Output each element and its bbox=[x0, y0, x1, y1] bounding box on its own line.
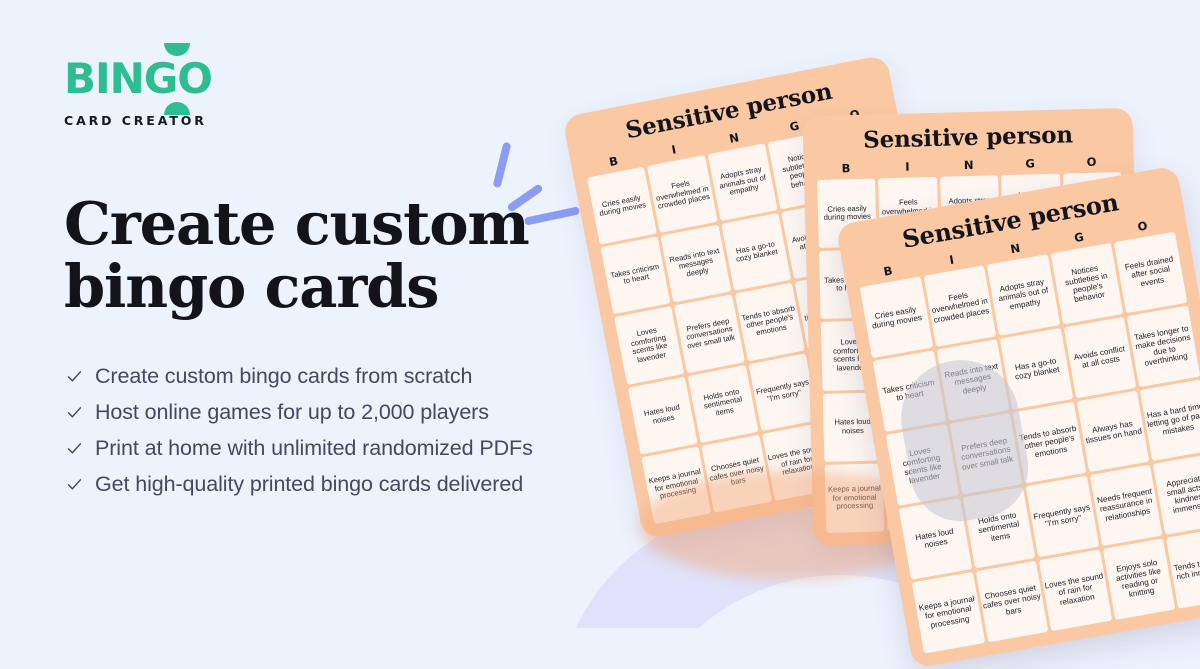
bingo-cell[interactable]: Cries easily during movies bbox=[587, 167, 657, 245]
bingo-cell[interactable]: Feels overwhelmed in crowded places bbox=[923, 265, 996, 347]
bingo-cell[interactable]: Takes criticism to heart bbox=[873, 350, 946, 432]
bingo-cell[interactable]: Loves comforting scents like lavender bbox=[886, 424, 959, 506]
bingo-cell[interactable]: Loves the sound of rain for relaxation bbox=[1039, 550, 1112, 632]
bingo-cell[interactable]: Feels drained after social events bbox=[1114, 232, 1187, 314]
bingo-cell[interactable]: Frequently says "I'm sorry" bbox=[1026, 476, 1099, 558]
bingo-cell[interactable]: Needs frequent reassurance in relationsh… bbox=[1090, 464, 1163, 546]
bingo-cell[interactable]: Takes longer to make decisions due to ov… bbox=[1127, 306, 1200, 388]
bingo-cell[interactable]: Holds onto sentimental items bbox=[962, 487, 1035, 569]
bingo-column-letter: G bbox=[1001, 156, 1060, 172]
bingo-cell[interactable]: Keeps a journal for emotional processing bbox=[641, 446, 711, 524]
bingo-cell[interactable]: Tends to absorb other people's emotions bbox=[1013, 402, 1086, 484]
bingo-column-letter: O bbox=[1062, 154, 1121, 170]
bingo-cell[interactable]: Hates loud noises bbox=[628, 376, 698, 454]
card-title: Sensitive person bbox=[816, 122, 1120, 153]
bingo-cell[interactable]: Avoids conflict at all costs bbox=[1064, 317, 1137, 399]
bingo-cell[interactable]: Enjoys solo activities like reading or k… bbox=[1103, 538, 1176, 620]
bingo-cell[interactable]: Tends to absorb other people's emotions bbox=[735, 283, 805, 361]
bingo-cell[interactable]: Has a go-to cozy blanket bbox=[1000, 328, 1073, 410]
bingo-cell[interactable]: Prefers deep conversations over small ta… bbox=[949, 413, 1022, 495]
bingo-cell[interactable]: Loves comforting scents like lavender bbox=[614, 306, 684, 384]
bingo-cell[interactable]: Reads into text messages deeply bbox=[936, 339, 1009, 421]
bingo-cell[interactable]: Keeps a journal for emotional processing bbox=[825, 463, 885, 533]
bingo-cell[interactable]: Hates loud noises bbox=[899, 498, 972, 580]
bingo-cell[interactable]: Has a go-to cozy blanket bbox=[721, 213, 791, 291]
bingo-cell[interactable]: Notices subtleties in people's behavior bbox=[1050, 243, 1123, 325]
bingo-cell[interactable]: Cries easily during movies bbox=[860, 277, 933, 359]
bingo-cell[interactable]: Chooses quiet cafes over noisy bars bbox=[975, 561, 1048, 643]
bingo-cell[interactable]: Keeps a journal for emotional processing bbox=[912, 572, 985, 654]
bingo-cell[interactable]: Adopts stray animals out of empathy bbox=[987, 254, 1060, 336]
bingo-cell[interactable]: Takes criticism to heart bbox=[601, 237, 671, 315]
bingo-grid: Cries easily during moviesFeels overwhel… bbox=[860, 232, 1200, 654]
bingo-column-letter: I bbox=[878, 159, 937, 175]
bingo-cell[interactable]: Has a hard time letting go of past mista… bbox=[1140, 379, 1200, 461]
bingo-cell[interactable]: Reads into text messages deeply bbox=[661, 225, 731, 303]
bingo-cell[interactable]: Prefers deep conversations over small ta… bbox=[674, 295, 744, 373]
bingo-cell[interactable]: Feels overwhelmed in crowded places bbox=[647, 155, 717, 233]
bingo-card-stack: Sensitive person BINGO Cries easily duri… bbox=[0, 0, 1200, 628]
bingo-cell[interactable]: Adopts stray animals out of empathy bbox=[708, 143, 778, 221]
bingo-column-letter: B bbox=[817, 161, 876, 177]
bingo-card-front[interactable]: Sensitive person BINGO Cries easily duri… bbox=[836, 165, 1200, 668]
bingo-cell[interactable]: Always has tissues on hand bbox=[1077, 391, 1150, 473]
bingo-cell[interactable]: Holds onto sentimental items bbox=[688, 365, 758, 443]
bingo-column-letter: N bbox=[939, 157, 998, 173]
bingo-cell[interactable]: Chooses quiet cafes over noisy bars bbox=[702, 434, 772, 512]
